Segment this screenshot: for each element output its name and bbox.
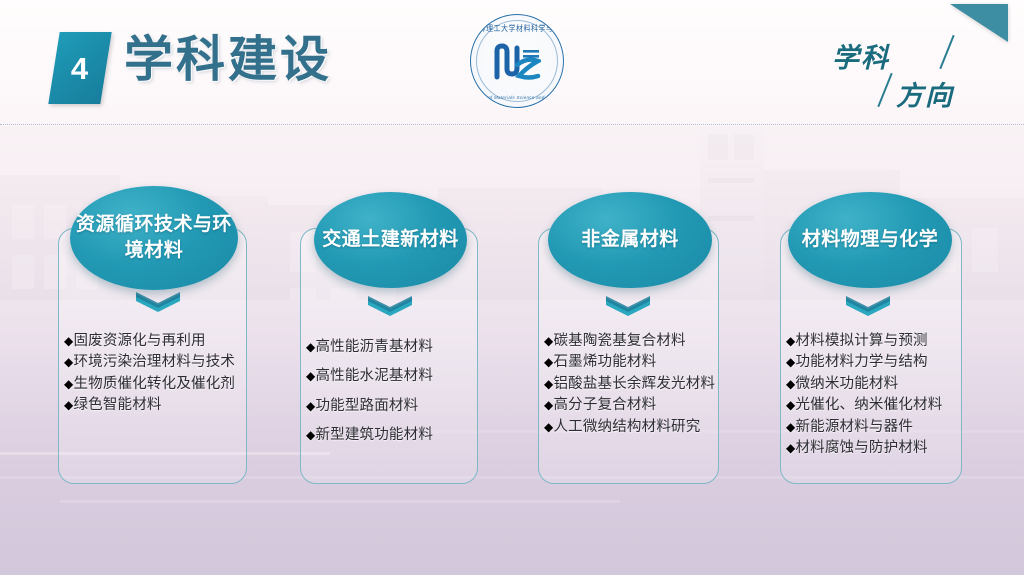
list-item: ◆石墨烯功能材料	[544, 352, 722, 373]
list-item: ◆绿色智能材料	[64, 395, 246, 416]
list-item-label: 材料模拟计算与预测	[795, 333, 927, 349]
calligraphy-slash-icon	[877, 73, 892, 107]
logo-mark-icon	[493, 43, 541, 81]
discipline-card-1-bullets: ◆固废资源化与再利用 ◆环境污染治理材料与技术 ◆生物质催化转化及催化剂 ◆绿色…	[64, 331, 246, 417]
list-item: ◆新能源材料与器件	[786, 417, 966, 438]
list-item: ◆功能材料力学与结构	[786, 352, 966, 373]
chevron-down-icon	[136, 292, 180, 314]
discipline-card-2-title-bubble[interactable]: 交通土建新材料	[314, 192, 467, 288]
list-item: ◆铝酸盐基长余辉发光材料	[544, 374, 722, 395]
list-item: ◆高性能沥青基材料	[306, 337, 481, 358]
list-item: ◆人工微纳结构材料研究	[544, 417, 722, 438]
list-item: ◆环境污染治理材料与技术	[64, 352, 246, 373]
chevron-down-icon	[846, 296, 890, 318]
header-divider	[0, 124, 1024, 125]
page-title: 学科建设	[124, 27, 332, 93]
logo-chinese-text: 桂林理工大学材料科学与工程学院	[471, 24, 563, 35]
discipline-card-4-title: 材料物理与化学	[802, 227, 939, 253]
list-item: ◆高性能水泥基材料	[306, 366, 481, 387]
discipline-card-3-bullets: ◆碳基陶瓷基复合材料 ◆石墨烯功能材料 ◆铝酸盐基长余辉发光材料 ◆高分子复合材…	[544, 331, 722, 438]
list-item-label: 新能源材料与器件	[795, 419, 913, 435]
list-item-label: 固废资源化与再利用	[73, 333, 205, 349]
list-item: ◆生物质催化转化及催化剂	[64, 374, 246, 395]
list-item-label: 铝酸盐基长余辉发光材料	[553, 376, 715, 392]
discipline-card-2-bullets: ◆高性能沥青基材料 ◆高性能水泥基材料 ◆功能型路面材料 ◆新型建筑功能材料	[306, 337, 481, 455]
calligraphy-slash-icon	[939, 35, 954, 69]
list-item: ◆微纳米功能材料	[786, 374, 966, 395]
discipline-card-1-title-bubble[interactable]: 资源循环技术与环境材料	[70, 186, 238, 290]
list-item-label: 人工微纳结构材料研究	[553, 419, 700, 435]
school-logo: 桂林理工大学材料科学与工程学院 School of Materials Scie…	[470, 14, 564, 108]
list-item: ◆碳基陶瓷基复合材料	[544, 331, 722, 352]
chevron-down-icon	[368, 296, 412, 318]
calligraphy-decoration: 学科 方向	[828, 36, 998, 114]
list-item-label: 碳基陶瓷基复合材料	[553, 333, 685, 349]
list-item-label: 生物质催化转化及催化剂	[73, 376, 235, 392]
list-item: ◆新型建筑功能材料	[306, 425, 481, 446]
discipline-card-3-title-bubble[interactable]: 非金属材料	[548, 192, 712, 288]
calligraphy-line-2: 方向	[896, 74, 954, 113]
chevron-down-icon	[606, 296, 650, 318]
calligraphy-line-1: 学科	[832, 36, 890, 75]
list-item: ◆固废资源化与再利用	[64, 331, 246, 352]
slide-canvas: 4 学科建设 桂林理工大学材料科学与工程学院 School of Materia…	[0, 0, 1024, 575]
list-item-label: 功能型路面材料	[315, 398, 418, 414]
list-item-label: 石墨烯功能材料	[553, 354, 656, 370]
list-item: ◆材料模拟计算与预测	[786, 331, 966, 352]
list-item: ◆材料腐蚀与防护材料	[786, 438, 966, 459]
list-item-label: 高性能沥青基材料	[315, 339, 433, 355]
list-item: ◆功能型路面材料	[306, 396, 481, 417]
list-item-label: 功能材料力学与结构	[795, 354, 927, 370]
list-item-label: 新型建筑功能材料	[315, 427, 433, 443]
discipline-card-4-bullets: ◆材料模拟计算与预测 ◆功能材料力学与结构 ◆微纳米功能材料 ◆光催化、纳米催化…	[786, 331, 966, 460]
discipline-card-2-title: 交通土建新材料	[322, 227, 459, 253]
list-item-label: 高分子复合材料	[553, 397, 656, 413]
discipline-card-1-title: 资源循环技术与环境材料	[70, 212, 238, 263]
list-item: ◆高分子复合材料	[544, 395, 722, 416]
list-item-label: 材料腐蚀与防护材料	[795, 440, 927, 456]
list-item: ◆光催化、纳米催化材料	[786, 395, 966, 416]
logo-english-text: School of Materials Science and Engineer…	[471, 95, 563, 100]
discipline-card-4-title-bubble[interactable]: 材料物理与化学	[788, 192, 952, 288]
list-item-label: 高性能水泥基材料	[315, 368, 433, 384]
list-item-label: 绿色智能材料	[73, 397, 161, 413]
list-item-label: 环境污染治理材料与技术	[73, 354, 235, 370]
section-number-text: 4	[71, 53, 88, 84]
discipline-card-3-title: 非金属材料	[581, 227, 679, 253]
list-item-label: 光催化、纳米催化材料	[795, 397, 942, 413]
list-item-label: 微纳米功能材料	[795, 376, 898, 392]
